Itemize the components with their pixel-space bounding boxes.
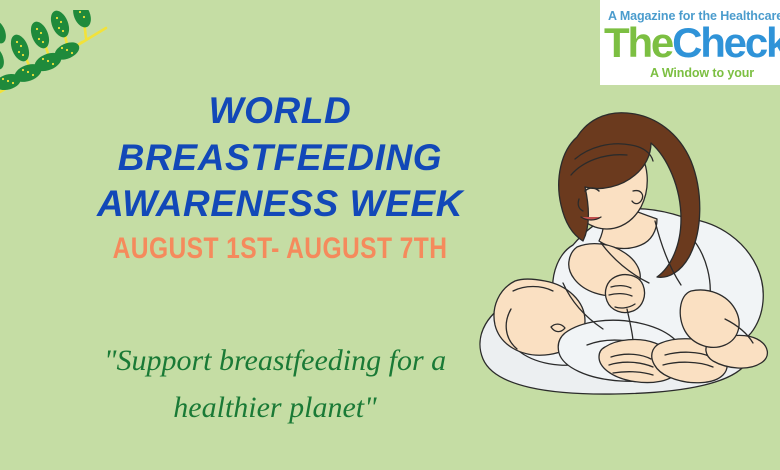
logo-word-check: Check	[672, 19, 780, 66]
quote-text: "Support breastfeeding for a healthier p…	[60, 338, 490, 431]
baby-blanket-fold	[587, 340, 653, 349]
baby-finger-3	[615, 304, 635, 308]
mother-knee	[680, 290, 739, 347]
mother-breast	[569, 244, 640, 296]
headline-line-1: WORLD	[70, 88, 490, 135]
leaf-branch-decoration	[0, 10, 114, 100]
mother-left-hand-finger-3	[613, 372, 653, 375]
logo-wordmark: TheCheck	[604, 22, 780, 64]
blouse-fold-1	[563, 283, 603, 329]
mother-nose	[578, 199, 583, 211]
baby-hand	[605, 275, 644, 313]
headline-line-2: BREASTFEEDING	[70, 135, 490, 182]
blouse-collar-left	[601, 243, 649, 283]
mother-right-hand-finger-1	[665, 352, 711, 357]
pillow-fold-1	[506, 309, 517, 349]
mother-right-sleeve	[691, 219, 763, 346]
baby-arm	[627, 309, 634, 357]
mother-right-forearm	[706, 335, 767, 368]
mother-hair-strand	[571, 155, 627, 175]
baby-hairline	[513, 287, 553, 292]
mother-right-hand	[652, 339, 727, 383]
mother-hair-band	[575, 144, 653, 161]
mother-left-hand	[599, 340, 678, 383]
mother-blouse	[553, 209, 757, 357]
baby-finger-2	[609, 294, 632, 296]
blouse-fold-2	[725, 319, 753, 343]
mother-ear	[632, 191, 643, 204]
page-title: WORLD BREASTFEEDING AWARENESS WEEK	[70, 88, 490, 228]
leaf-dots	[2, 11, 85, 84]
mother-left-hand-finger-2	[609, 362, 653, 367]
leaf-shapes	[0, 10, 94, 93]
mother-mouth	[581, 217, 601, 220]
baby-ear	[551, 324, 565, 332]
headline-line-3: AWARENESS WEEK	[70, 181, 490, 228]
mother-face	[567, 137, 648, 229]
mother-hair	[559, 113, 700, 278]
baby-head	[494, 279, 585, 355]
baby-blanket	[558, 320, 683, 381]
logo-tagline-bottom: A Window to your	[650, 66, 754, 80]
mother-breastfeeding-baby-illustration	[455, 95, 780, 395]
mother-eye	[585, 188, 599, 191]
date-range-text: AUGUST 1ST- AUGUST 7TH	[108, 232, 452, 266]
mother-neck-chest	[599, 199, 657, 248]
poster-canvas: A Magazine for the Healthcare TheCheck A…	[0, 0, 780, 470]
quote-line-1: "Support breastfeeding for a	[60, 338, 490, 385]
logo-word-the: The	[604, 19, 672, 66]
baby-finger-1	[611, 286, 631, 288]
mother-left-sleeve	[504, 285, 605, 366]
mother-left-hand-finger-1	[611, 354, 651, 359]
blouse-collar-right	[655, 221, 681, 285]
quote-line-2: healthier planet"	[60, 385, 490, 432]
mother-right-hand-finger-2	[663, 362, 713, 367]
magazine-logo-card[interactable]: A Magazine for the Healthcare TheCheck A…	[600, 0, 780, 85]
nursing-pillow	[480, 292, 751, 394]
